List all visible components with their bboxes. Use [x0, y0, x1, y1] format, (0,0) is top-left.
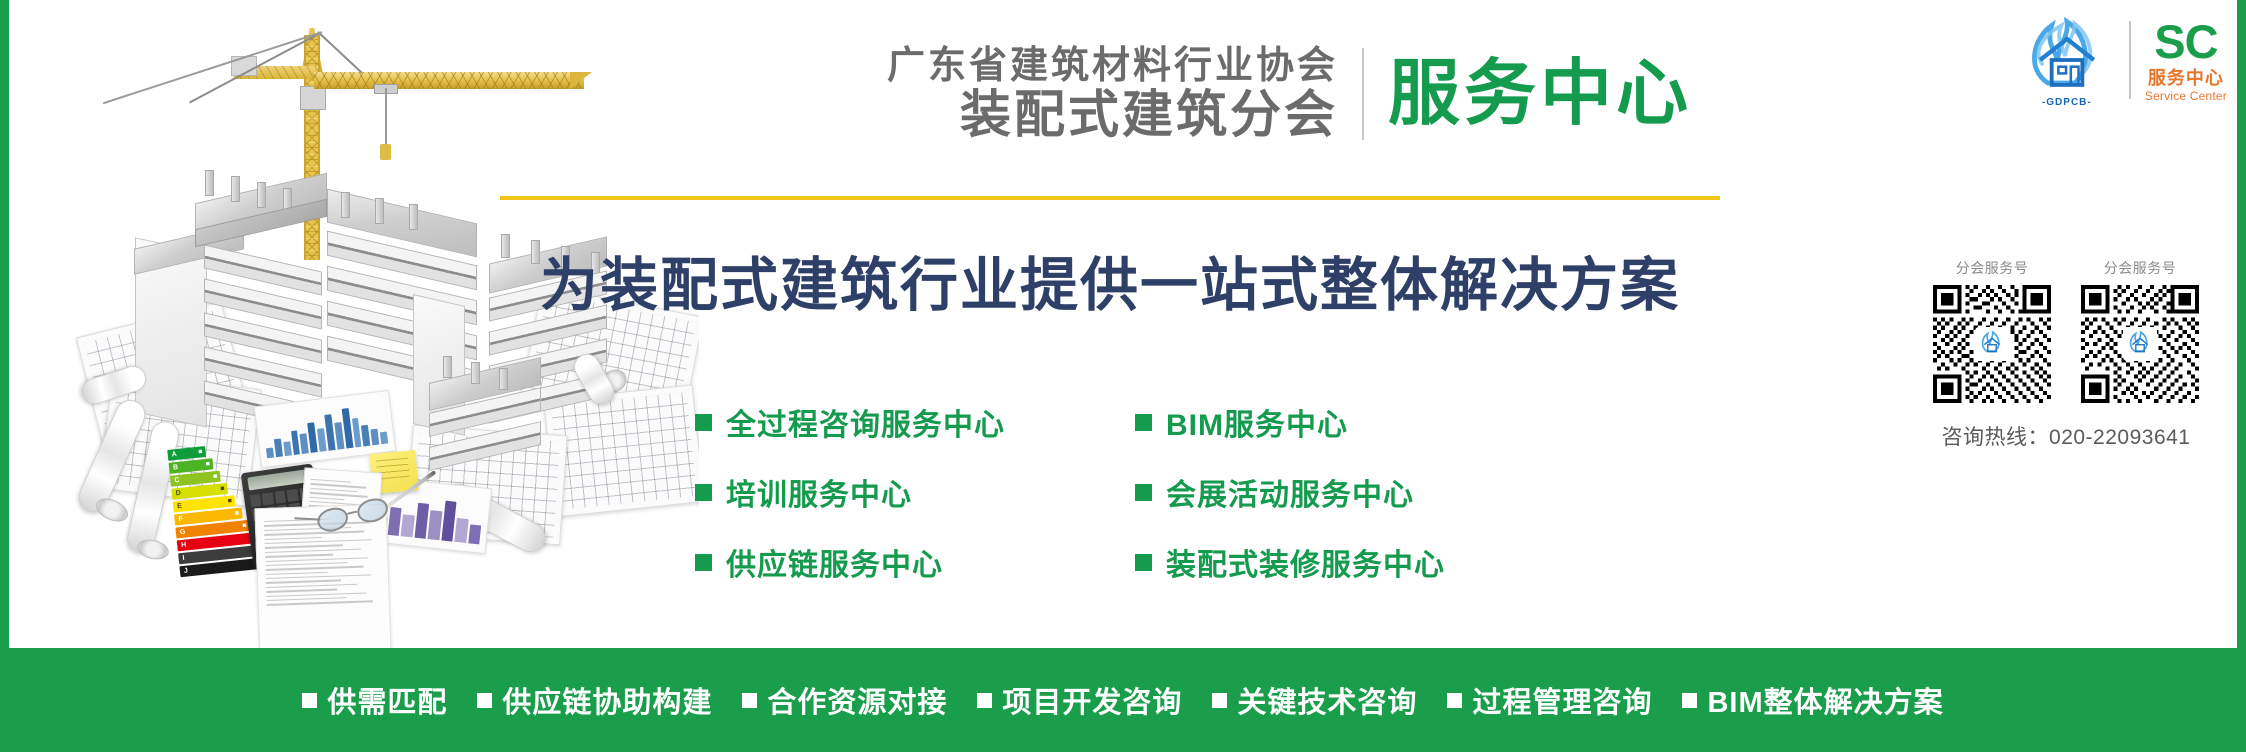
brand-logo: -GDPCB- SC 服务中心 Service Center [2019, 14, 2227, 106]
crane-cable-icon [317, 31, 362, 73]
qr-code-image[interactable] [1933, 285, 2051, 403]
crane-cab-icon [300, 86, 326, 110]
bullet-square-icon [1212, 693, 1227, 708]
bottom-bar-item[interactable]: BIM整体解决方案 [1682, 679, 1943, 721]
bullet-square-icon [1135, 554, 1152, 571]
service-item-label: BIM服务中心 [1166, 400, 1348, 444]
bottom-keyword-bar: 供需匹配 供应链协助构建 合作资源对接 项目开发咨询 关键技术咨询 过程管理咨询… [0, 648, 2246, 752]
bottom-bar-label: 过程管理咨询 [1472, 679, 1652, 721]
bullet-square-icon [977, 693, 992, 708]
association-line-1: 广东省建筑材料行业协会 [887, 46, 1338, 86]
bullet-square-icon [1135, 484, 1152, 501]
bottom-bar-item[interactable]: 过程管理咨询 [1447, 679, 1652, 721]
bullet-square-icon [1682, 693, 1697, 708]
headline-divider [1362, 48, 1364, 140]
main-tagline: 为装配式建筑行业提供一站式整体解决方案 [500, 238, 1720, 322]
sc-english-label: Service Center [2145, 90, 2227, 102]
bottom-bar-label: 供应链协助构建 [502, 679, 712, 721]
service-item[interactable]: 供应链服务中心 [695, 540, 1125, 584]
association-name: 广东省建筑材料行业协会 装配式建筑分会 [887, 46, 1338, 142]
gdpcb-abbr: -GDPCB- [2019, 97, 2115, 108]
bullet-square-icon [695, 484, 712, 501]
rebar-column [471, 362, 480, 384]
service-item[interactable]: 会展活动服务中心 [1135, 470, 1565, 514]
bottom-bar-item[interactable]: 关键技术咨询 [1212, 679, 1417, 721]
sc-letters: SC [2154, 18, 2217, 65]
bottom-bar-label: 合作资源对接 [767, 679, 947, 721]
qr-caption: 分会服务号 [2081, 258, 2199, 278]
rolled-drawing-end [135, 537, 170, 563]
right-green-edge [2237, 0, 2246, 648]
headline-block: 广东省建筑材料行业协会 装配式建筑分会 服务中心 [572, 46, 1692, 142]
association-line-2: 装配式建筑分会 [960, 88, 1338, 142]
service-item-label: 供应链服务中心 [726, 540, 943, 584]
service-item[interactable]: 装配式装修服务中心 [1135, 540, 1565, 584]
qr-block: 分会服务号 [1901, 258, 2231, 451]
service-item[interactable]: 全过程咨询服务中心 [695, 400, 1125, 444]
bottom-bar-label: 项目开发咨询 [1002, 679, 1182, 721]
rebar-column [341, 192, 350, 218]
hotline-text: 咨询热线：020-22093641 [1901, 421, 2231, 451]
banner-root: A■ B■ C■ D■ E■ F■ G■ H■ I■ J■ [0, 0, 2246, 752]
bullet-square-icon [695, 554, 712, 571]
left-green-edge [0, 0, 9, 648]
rebar-column [257, 182, 266, 208]
bullet-square-icon [695, 414, 712, 431]
service-item-label: 会展活动服务中心 [1166, 470, 1414, 514]
crane-hook-icon [380, 144, 391, 160]
rebar-column [499, 368, 508, 390]
qr-code-item: 分会服务号 [1933, 258, 2051, 403]
service-center-title: 服务中心 [1388, 58, 1692, 130]
bottom-bar-item[interactable]: 合作资源对接 [742, 679, 947, 721]
gdpcb-house-flame-icon: -GDPCB- [2019, 14, 2115, 106]
qr-embedded-logo-icon [2123, 327, 2157, 361]
yellow-divider-rule [500, 196, 1720, 200]
service-item-label: 全过程咨询服务中心 [726, 400, 1005, 444]
bullet-square-icon [1135, 414, 1152, 431]
bottom-bar-label: 供需匹配 [327, 679, 447, 721]
bullet-square-icon [477, 693, 492, 708]
rebar-column [409, 204, 418, 230]
bullet-square-icon [1447, 693, 1462, 708]
rebar-column [375, 198, 384, 224]
content-area: -GDPCB- SC 服务中心 Service Center 广东省建筑材料行业… [700, 0, 2237, 648]
bottom-bar-item[interactable]: 供应链协助构建 [477, 679, 712, 721]
service-item[interactable]: 培训服务中心 [695, 470, 1125, 514]
service-list: 全过程咨询服务中心 BIM服务中心 培训服务中心 会展活动服务中心 供应链服务中… [695, 400, 1765, 584]
qr-code-image[interactable] [2081, 285, 2199, 403]
bottom-bar-item[interactable]: 供需匹配 [302, 679, 447, 721]
qr-embedded-logo-icon [1975, 327, 2009, 361]
qr-caption: 分会服务号 [1933, 258, 2051, 278]
bottom-bar-label: 关键技术咨询 [1237, 679, 1417, 721]
service-item[interactable]: BIM服务中心 [1135, 400, 1565, 444]
rebar-column [443, 356, 452, 378]
crane-hoist-line-icon [385, 88, 387, 146]
service-item-label: 装配式装修服务中心 [1166, 540, 1445, 584]
rebar-column [205, 170, 214, 196]
bottom-bar-item[interactable]: 项目开发咨询 [977, 679, 1182, 721]
crane-jib-icon [314, 72, 584, 89]
qr-code-item: 分会服务号 [2081, 258, 2199, 403]
bullet-square-icon [742, 693, 757, 708]
bottom-bar-label: BIM整体解决方案 [1707, 679, 1943, 721]
bullet-square-icon [302, 693, 317, 708]
sc-chinese-label: 服务中心 [2148, 69, 2224, 87]
logo-divider [2129, 21, 2131, 99]
rebar-column [231, 176, 240, 202]
service-item-label: 培训服务中心 [726, 470, 912, 514]
sc-lockup: SC 服务中心 Service Center [2145, 18, 2227, 102]
